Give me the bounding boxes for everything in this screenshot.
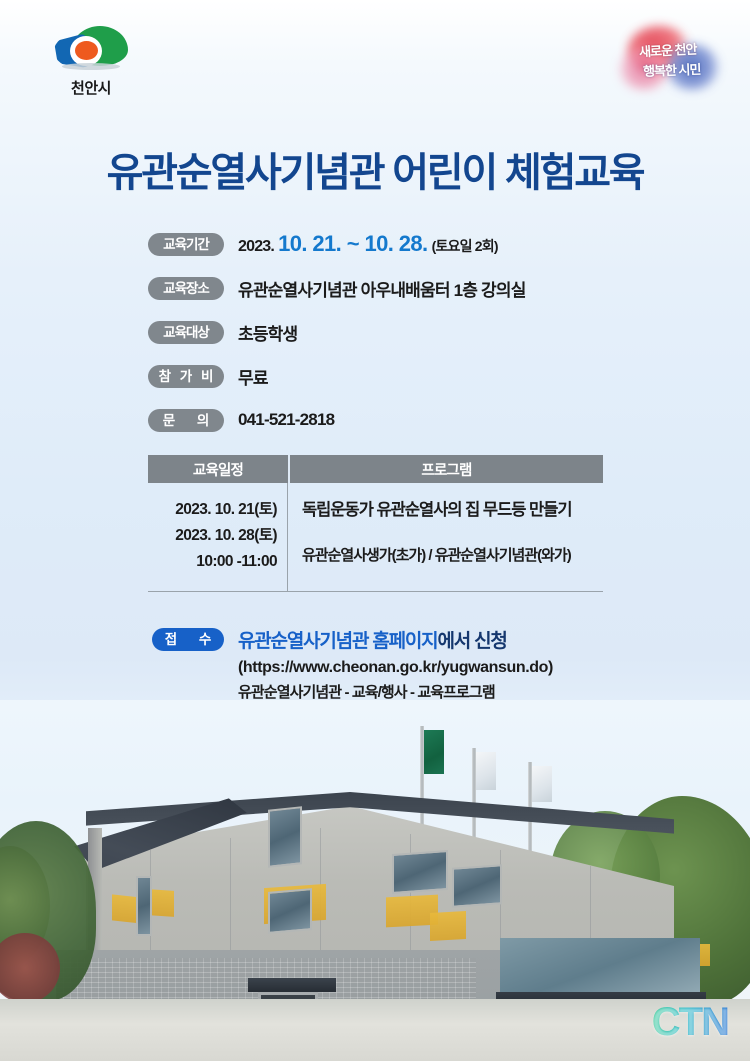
window-upper-4	[392, 850, 448, 894]
info-value-fee: 무료	[238, 364, 268, 389]
photo-ground	[0, 999, 750, 1061]
schedule-body: 2023. 10. 21(토) 2023. 10. 28(토) 10:00 -1…	[148, 483, 603, 592]
schedule-program-2: 유관순열사생가(초가) / 유관순열사기념관(와가)	[302, 545, 603, 567]
info-value-period: 2023. 10. 21. ~ 10. 28. (토요일 2회)	[238, 231, 498, 257]
slogan-text: 새로운 천안 행복한 시민	[612, 26, 724, 92]
flag-green	[424, 730, 444, 774]
building-photo: CTN	[0, 700, 750, 1061]
registration-block: 접 수 유관순열사기념관 홈페이지에서 신청 (https://www.cheo…	[152, 626, 622, 702]
city-logo-label: 천안시	[36, 77, 146, 98]
side-door-canopy	[248, 978, 336, 992]
info-value-target: 초등학생	[238, 320, 297, 345]
window-upper-1	[268, 806, 302, 868]
badge-fee: 참 가 비	[148, 365, 224, 388]
registration-headline: 유관순열사기념관 홈페이지에서 신청	[238, 626, 507, 653]
info-list: 교육기간 2023. 10. 21. ~ 10. 28. (토요일 2회) 교육…	[148, 222, 618, 442]
registration-action: 에서 신청	[437, 631, 506, 652]
schedule-table: 교육일정 프로그램 2023. 10. 21(토) 2023. 10. 28(토…	[148, 455, 603, 592]
registration-site-name: 유관순열사기념관 홈페이지	[238, 631, 437, 652]
city-slogan-logo: 새로운 천안 행복한 시민	[612, 26, 724, 92]
period-year: 2023.	[238, 238, 274, 255]
window-upper-5	[452, 864, 502, 907]
period-note: (토요일 2회)	[432, 238, 498, 254]
flag-white-2	[532, 766, 552, 802]
cheonan-city-logo: 천안시	[36, 26, 146, 98]
schedule-header-row: 교육일정 프로그램	[148, 455, 603, 483]
registration-url[interactable]: (https://www.cheonan.go.kr/yugwansun.do)	[238, 659, 622, 677]
badge-contact: 문 의	[148, 409, 224, 432]
slogan-line-2: 행복한 시민	[643, 58, 701, 79]
registration-headline-row: 접 수 유관순열사기념관 홈페이지에서 신청	[152, 626, 622, 653]
info-value-contact: 041-521-2818	[238, 410, 334, 430]
schedule-header-date: 교육일정	[148, 455, 288, 483]
badge-period: 교육기간	[148, 233, 224, 256]
schedule-date-2: 2023. 10. 28(토)	[148, 523, 277, 549]
emblem-orange-dot	[75, 41, 98, 60]
poster-root: 천안시 새로운 천안 행복한 시민 유관순열사기념관 어린이 체험교육 교육기간…	[0, 0, 750, 1061]
info-value-place: 유관순열사기념관 아우내배움터 1층 강의실	[238, 276, 526, 301]
schedule-header-program: 프로그램	[288, 455, 603, 483]
flag-white-1	[476, 752, 496, 790]
schedule-time: 10:00 -11:00	[148, 549, 277, 575]
ctn-watermark: CTN	[652, 1000, 728, 1045]
info-row-place: 교육장소 유관순열사기념관 아우내배움터 1층 강의실	[148, 266, 618, 310]
emblem-shadow	[62, 63, 120, 70]
badge-target: 교육대상	[148, 321, 224, 344]
schedule-program-1: 독립운동가 유관순열사의 집 무드등 만들기	[302, 497, 603, 523]
slogan-line-1: 새로운 천안	[639, 38, 697, 60]
info-row-fee: 참 가 비 무료	[148, 354, 618, 398]
info-row-contact: 문 의 041-521-2818	[148, 398, 618, 442]
city-emblem-icon	[54, 26, 128, 72]
window-upper-2	[268, 888, 312, 934]
accent-panel-3	[430, 911, 466, 941]
registration-menu-path: 유관순열사기념관 - 교육/행사 - 교육프로그램	[238, 681, 622, 702]
badge-place: 교육장소	[148, 277, 224, 300]
page-title: 유관순열사기념관 어린이 체험교육	[0, 140, 750, 198]
window-upper-3	[136, 876, 152, 936]
schedule-program-cell: 독립운동가 유관순열사의 집 무드등 만들기 유관순열사생가(초가) / 유관순…	[288, 483, 603, 591]
period-dates: 10. 21. ~ 10. 28.	[278, 231, 427, 256]
schedule-date-1: 2023. 10. 21(토)	[148, 497, 277, 523]
schedule-date-cell: 2023. 10. 21(토) 2023. 10. 28(토) 10:00 -1…	[148, 483, 288, 591]
info-row-period: 교육기간 2023. 10. 21. ~ 10. 28. (토요일 2회)	[148, 222, 618, 266]
badge-registration: 접 수	[152, 628, 224, 651]
info-row-target: 교육대상 초등학생	[148, 310, 618, 354]
